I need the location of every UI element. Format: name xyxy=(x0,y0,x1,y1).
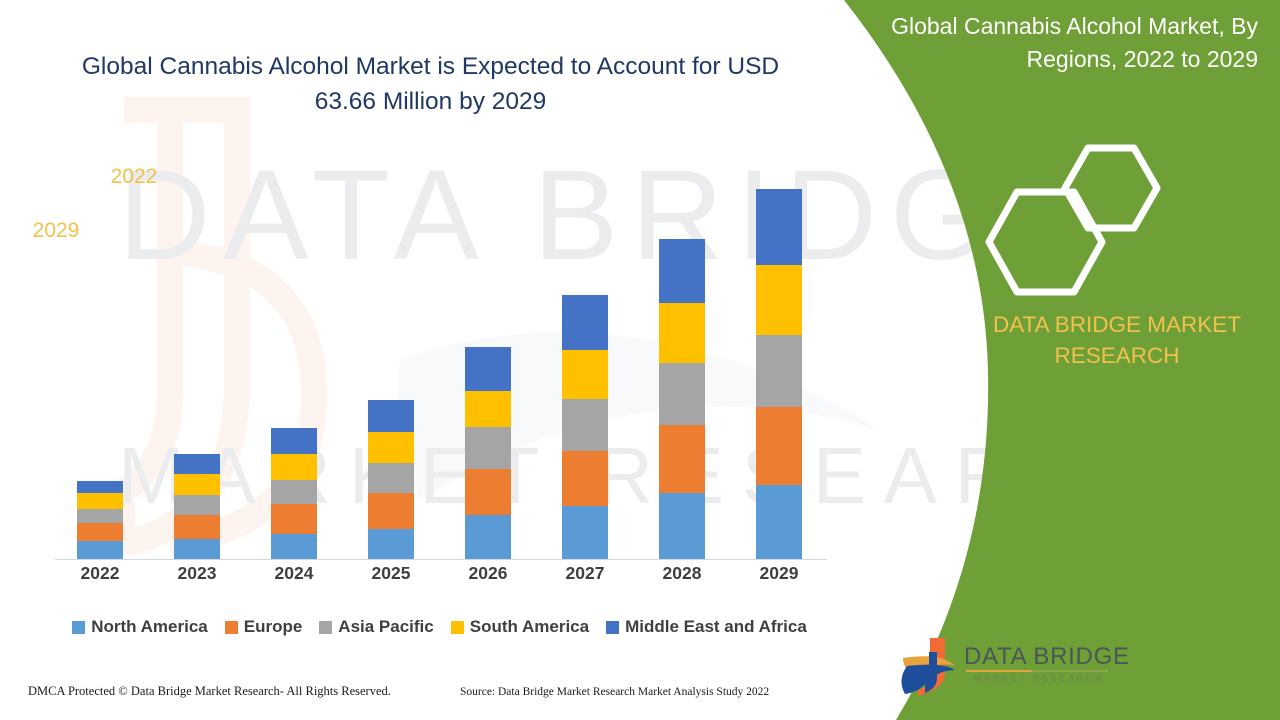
bar-segment[interactable] xyxy=(368,463,414,493)
legend-item[interactable]: Europe xyxy=(225,617,303,637)
chart-plot-area xyxy=(52,150,827,560)
bar-segment[interactable] xyxy=(271,454,317,480)
bar-segment[interactable] xyxy=(465,391,511,427)
legend-label: Europe xyxy=(244,617,303,637)
bar-segment[interactable] xyxy=(271,534,317,559)
legend-label: North America xyxy=(91,617,208,637)
x-tick-2022: 2022 xyxy=(65,563,135,584)
bar-segment[interactable] xyxy=(465,515,511,559)
legend-item[interactable]: South America xyxy=(451,617,589,637)
legend-swatch-icon xyxy=(451,621,464,634)
bar-group-2027[interactable] xyxy=(562,295,608,559)
bar-group-2028[interactable] xyxy=(659,239,705,559)
bar-segment[interactable] xyxy=(562,399,608,451)
stacked-bar-chart xyxy=(52,150,827,560)
bar-segment[interactable] xyxy=(271,428,317,454)
hexagon-label-end-year: 2029 xyxy=(6,219,106,243)
bar-segment[interactable] xyxy=(756,485,802,559)
legend-label: Asia Pacific xyxy=(338,617,433,637)
x-tick-2024: 2024 xyxy=(259,563,329,584)
bar-segment[interactable] xyxy=(659,425,705,493)
bar-segment[interactable] xyxy=(271,504,317,534)
bar-segment[interactable] xyxy=(368,432,414,463)
logo-divider-rule xyxy=(966,670,1108,672)
brand-name: DATA BRIDGE MARKET RESEARCH xyxy=(962,310,1272,371)
bar-segment[interactable] xyxy=(271,480,317,504)
bar-segment[interactable] xyxy=(77,541,123,559)
legend-label: South America xyxy=(470,617,589,637)
chart-legend: North AmericaEuropeAsia PacificSouth Ame… xyxy=(52,617,827,637)
bar-segment[interactable] xyxy=(659,239,705,303)
hexagon-2022-shape xyxy=(1065,148,1157,228)
legend-item[interactable]: Asia Pacific xyxy=(319,617,433,637)
bar-segment[interactable] xyxy=(562,451,608,506)
logo-subtitle: MARKET RESEARCH xyxy=(966,673,1112,683)
x-tick-2027: 2027 xyxy=(550,563,620,584)
bar-segment[interactable] xyxy=(77,523,123,541)
x-tick-2029: 2029 xyxy=(744,563,814,584)
logo-wordmark: DATA BRIDGE xyxy=(964,643,1130,671)
x-tick-2026: 2026 xyxy=(453,563,523,584)
legend-label: Middle East and Africa xyxy=(625,617,807,637)
bar-segment[interactable] xyxy=(465,469,511,515)
bar-segment[interactable] xyxy=(756,407,802,485)
bar-group-2023[interactable] xyxy=(174,454,220,559)
bar-group-2029[interactable] xyxy=(756,189,802,559)
bar-segment[interactable] xyxy=(174,515,220,539)
bar-segment[interactable] xyxy=(756,335,802,407)
x-axis-tick-labels: 20222023202420252026202720282029 xyxy=(52,563,827,593)
bar-group-2024[interactable] xyxy=(271,428,317,559)
x-axis-line xyxy=(55,559,827,560)
bar-segment[interactable] xyxy=(368,400,414,432)
hexagon-2029-shape xyxy=(989,192,1102,292)
bar-segment[interactable] xyxy=(465,427,511,469)
bar-segment[interactable] xyxy=(174,539,220,559)
bar-segment[interactable] xyxy=(368,493,414,529)
bar-segment[interactable] xyxy=(174,495,220,515)
bar-segment[interactable] xyxy=(562,295,608,350)
panel-title: Global Cannabis Alcohol Market, By Regio… xyxy=(866,10,1258,75)
bar-segment[interactable] xyxy=(77,493,123,509)
bar-group-2025[interactable] xyxy=(368,400,414,559)
copyright-notice: DMCA Protected © Data Bridge Market Rese… xyxy=(28,684,391,699)
bar-segment[interactable] xyxy=(174,474,220,495)
legend-item[interactable]: North America xyxy=(72,617,208,637)
bar-segment[interactable] xyxy=(659,303,705,363)
x-tick-2028: 2028 xyxy=(647,563,717,584)
source-note: Source: Data Bridge Market Research Mark… xyxy=(460,686,769,698)
bar-segment[interactable] xyxy=(368,529,414,559)
bar-segment[interactable] xyxy=(77,509,123,523)
x-tick-2023: 2023 xyxy=(162,563,232,584)
page-title: Global Cannabis Alcohol Market is Expect… xyxy=(58,50,803,120)
legend-swatch-icon xyxy=(606,621,619,634)
bar-segment[interactable] xyxy=(659,493,705,559)
bar-group-2026[interactable] xyxy=(465,347,511,559)
bar-segment[interactable] xyxy=(562,350,608,399)
hexagon-label-start-year: 2022 xyxy=(84,165,184,189)
bar-group-2022[interactable] xyxy=(77,481,123,559)
legend-swatch-icon xyxy=(319,621,332,634)
bar-segment[interactable] xyxy=(465,347,511,391)
x-tick-2025: 2025 xyxy=(356,563,426,584)
bar-segment[interactable] xyxy=(77,481,123,493)
legend-item[interactable]: Middle East and Africa xyxy=(606,617,807,637)
bar-segment[interactable] xyxy=(756,189,802,265)
data-bridge-logo-mark-icon xyxy=(893,636,965,698)
bar-segment[interactable] xyxy=(174,454,220,474)
bar-segment[interactable] xyxy=(659,363,705,425)
hexagon-group xyxy=(984,136,1184,296)
legend-swatch-icon xyxy=(225,621,238,634)
bar-segment[interactable] xyxy=(562,506,608,559)
bar-segment[interactable] xyxy=(756,265,802,335)
legend-swatch-icon xyxy=(72,621,85,634)
infographic-page: DATA BRIDGE MARKET RESEARCH Global Canna… xyxy=(0,0,1280,720)
